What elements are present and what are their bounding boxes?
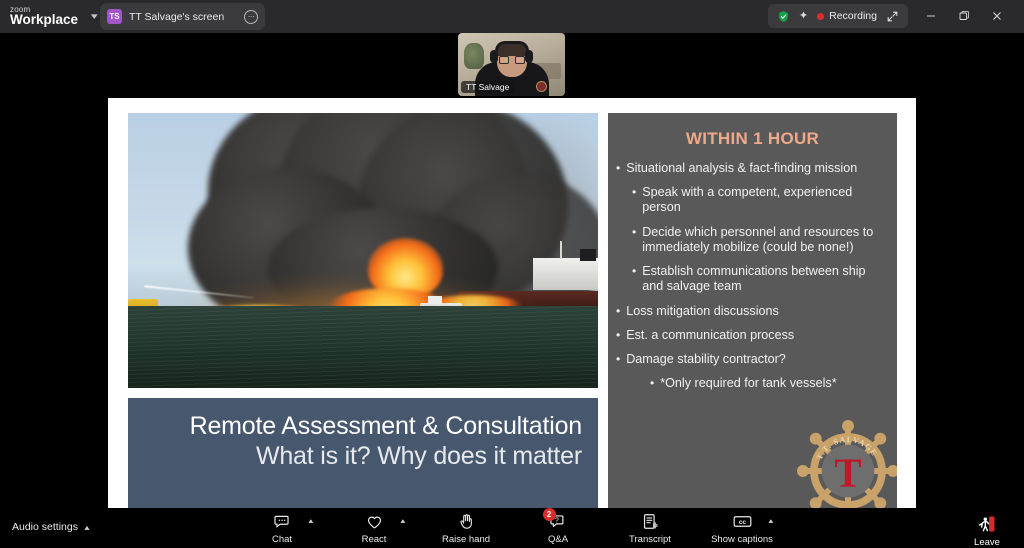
participant-name-label: TT Salvage <box>461 81 514 93</box>
slide-caption-subtitle: What is it? Why does it matter <box>128 442 582 472</box>
chat-bubble-icon <box>273 511 292 531</box>
question-answer-icon: ?2 <box>549 511 568 531</box>
toolbar-item-show-captions[interactable]: cc▴Show captions <box>709 511 775 545</box>
closed-captions-icon: cc <box>732 511 753 531</box>
slide-bullet-text: Damage stability contractor? <box>626 352 889 367</box>
expand-arrows-icon[interactable] <box>886 10 899 23</box>
close-icon[interactable] <box>984 4 1010 28</box>
slide-bullet-text: Speak with a competent, experienced pers… <box>642 185 889 215</box>
slide-bullet-item: •Est. a communication process <box>614 328 889 343</box>
zoom-meeting-window: zoom Workplace ▾ TS TT Salvage's screen … <box>0 0 1024 548</box>
burning-ship-photo <box>128 113 598 388</box>
transcript-icon <box>641 511 660 531</box>
heart-icon <box>365 511 384 531</box>
slide-bullet-list: •Situational analysis & fact-finding mis… <box>608 161 897 392</box>
svg-text:T: T <box>834 450 861 495</box>
chevron-down-icon[interactable]: ▾ <box>91 12 98 21</box>
slide-bullet-item: •Situational analysis & fact-finding mis… <box>614 161 889 176</box>
notification-badge: 2 <box>543 508 556 521</box>
toolbar-item-label: React <box>362 534 387 545</box>
chevron-up-icon[interactable]: ▴ <box>401 516 406 525</box>
green-shield-icon[interactable] <box>777 10 790 23</box>
toolbar-item-chat[interactable]: ▴Chat <box>249 511 315 545</box>
bullet-dot-icon: • <box>616 352 620 367</box>
maximize-icon[interactable] <box>951 4 977 28</box>
slide-bullet-item: •Damage stability contractor? <box>614 352 889 367</box>
participant-video-tile[interactable]: TT Salvage <box>458 33 565 96</box>
avatar: TS <box>107 9 122 24</box>
recording-label: Recording <box>829 10 877 22</box>
recording-indicator[interactable]: Recording <box>817 10 877 22</box>
tab-label: TT Salvage's screen <box>129 11 244 23</box>
raise-hand-icon <box>457 511 476 531</box>
meeting-stage: TT Salvage <box>0 33 1024 508</box>
minimize-icon[interactable] <box>918 4 944 28</box>
toolbar-item-react[interactable]: ▴React <box>341 511 407 545</box>
toolbar-item-label: Q&A <box>548 534 568 545</box>
toolbar-item-label: Transcript <box>629 534 671 545</box>
slide-bullet-item: •*Only required for tank vessels* <box>614 376 889 391</box>
leave-meeting-icon <box>976 514 998 534</box>
slide-bullet-text: Situational analysis & fact-finding miss… <box>626 161 889 176</box>
app-brand: zoom Workplace <box>10 6 78 28</box>
leave-meeting-button[interactable]: Leave <box>960 514 1014 548</box>
meeting-toolbar: Audio settings ▴ ▴Chat▴ReactRaise hand?2… <box>0 508 1024 548</box>
screen-share-tab[interactable]: TS TT Salvage's screen ··· <box>100 3 265 30</box>
toolbar-item-transcript[interactable]: Transcript <box>617 511 683 545</box>
slide-content-panel: WITHIN 1 HOUR •Situational analysis & fa… <box>608 113 897 508</box>
svg-text:cc: cc <box>738 519 746 526</box>
recording-dot-icon <box>817 13 824 20</box>
leave-label: Leave <box>974 537 1000 548</box>
bullet-dot-icon: • <box>632 185 636 215</box>
shared-screen-slide[interactable]: Remote Assessment & Consultation What is… <box>108 98 916 508</box>
slide-bullet-text: Establish communications between ship an… <box>642 264 889 294</box>
slide-bullet-text: Decide which personnel and resources to … <box>642 225 889 255</box>
slide-caption-box: Remote Assessment & Consultation What is… <box>128 398 598 508</box>
ai-sparkle-icon[interactable]: ✦ <box>799 11 808 22</box>
toolbar-item-label: Show captions <box>711 534 773 545</box>
slide-bullet-item: •Loss mitigation discussions <box>614 304 889 319</box>
ships-wheel-logo: T T.T. SALVAGE <box>797 420 897 508</box>
slide-bullet-item: •Establish communications between ship a… <box>614 264 889 294</box>
toolbar-item-q-a[interactable]: ?2Q&A <box>525 511 591 545</box>
bullet-dot-icon: • <box>616 161 620 176</box>
more-options-icon[interactable]: ··· <box>244 10 258 24</box>
bullet-dot-icon: • <box>650 376 654 391</box>
toolbar-items: ▴Chat▴ReactRaise hand?2Q&ATranscriptcc▴S… <box>0 508 1024 548</box>
toolbar-item-label: Chat <box>272 534 292 545</box>
chevron-up-icon[interactable]: ▴ <box>769 516 774 525</box>
slide-bullet-text: Loss mitigation discussions <box>626 304 889 319</box>
slide-bullet-text: *Only required for tank vessels* <box>660 376 889 391</box>
chevron-up-icon[interactable]: ▴ <box>309 516 314 525</box>
toolbar-item-label: Raise hand <box>442 534 490 545</box>
meeting-status-pill: ✦ Recording <box>768 4 908 28</box>
bullet-dot-icon: • <box>632 264 636 294</box>
bullet-dot-icon: • <box>616 328 620 343</box>
slide-bullet-item: •Speak with a competent, experienced per… <box>614 185 889 215</box>
slide-bullet-text: Est. a communication process <box>626 328 889 343</box>
bullet-dot-icon: • <box>616 304 620 319</box>
bullet-dot-icon: • <box>632 225 636 255</box>
slide-panel-title: WITHIN 1 HOUR <box>608 129 897 149</box>
brand-workplace-label: Workplace <box>10 13 78 27</box>
toolbar-item-raise-hand[interactable]: Raise hand <box>433 511 499 545</box>
slide-bullet-item: •Decide which personnel and resources to… <box>614 225 889 255</box>
slide-caption-title: Remote Assessment & Consultation <box>128 412 582 442</box>
